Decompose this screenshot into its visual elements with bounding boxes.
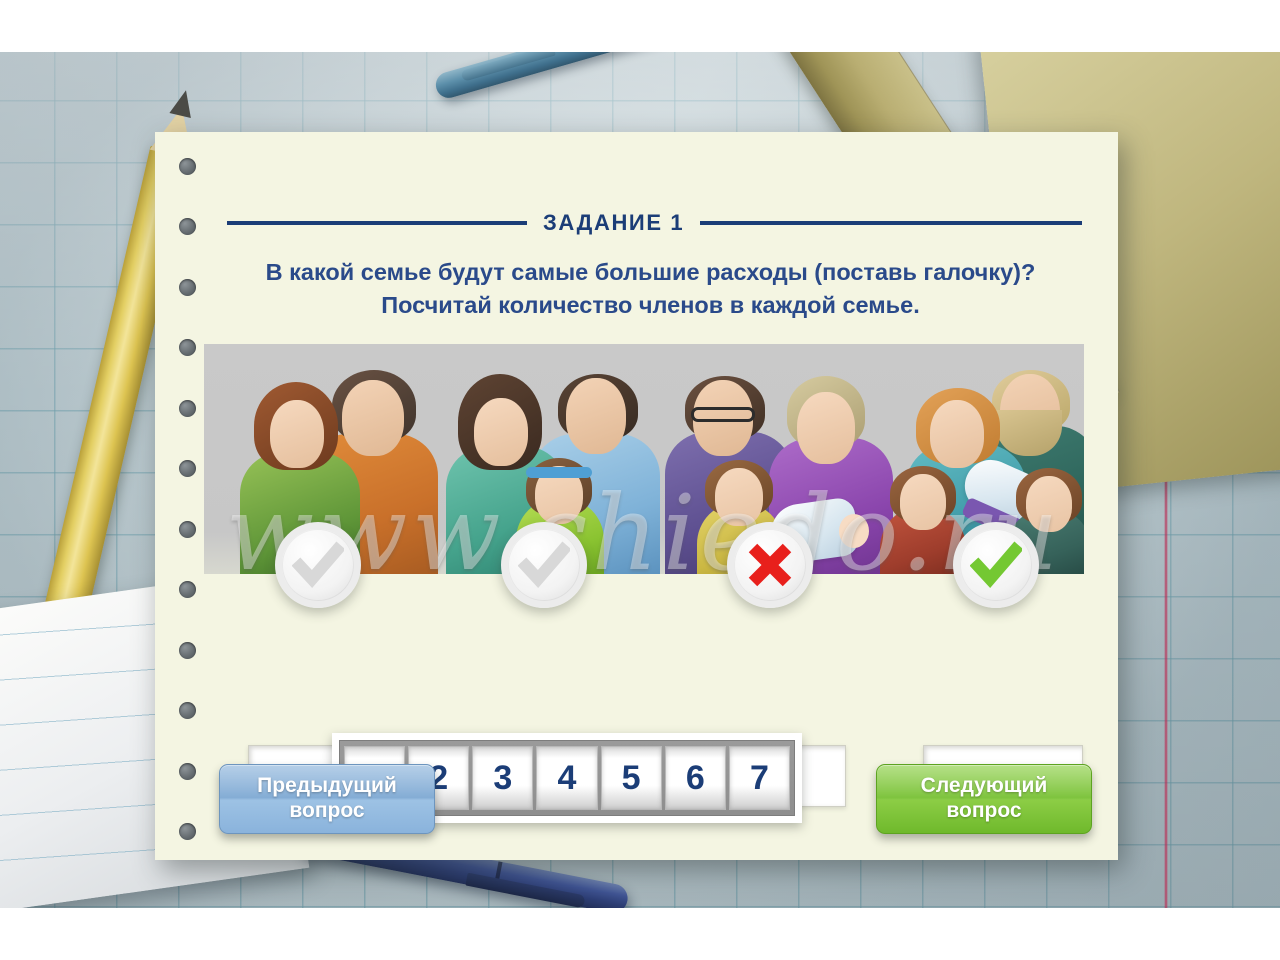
binder-hole xyxy=(179,763,196,780)
question-line-1: В какой семье будут самые большие расход… xyxy=(215,256,1086,289)
person-head xyxy=(474,398,528,466)
check-icon xyxy=(292,539,344,591)
child-head xyxy=(900,474,946,530)
next-question-line-1: Следующий xyxy=(921,774,1048,797)
cross-icon xyxy=(745,540,795,590)
question-text: В какой семье будут самые большие расход… xyxy=(215,256,1086,323)
check-icon xyxy=(518,539,570,591)
baby-head xyxy=(839,514,869,548)
previous-question-line-2: вопрос xyxy=(289,799,364,822)
person-head xyxy=(342,380,404,456)
previous-question-button[interactable]: Предыдущий вопрос xyxy=(219,764,435,834)
answer-circle-family-4[interactable] xyxy=(953,522,1039,608)
eyeglasses-icon xyxy=(691,407,755,422)
keypad-key-4[interactable]: 4 xyxy=(536,746,597,810)
binder-hole xyxy=(179,702,196,719)
task-title-row: ЗАДАНИЕ 1 xyxy=(227,210,1082,236)
binder-hole xyxy=(179,581,196,598)
person-head xyxy=(566,378,626,454)
person-head xyxy=(930,400,984,468)
binder-hole xyxy=(179,521,196,538)
keypad-key-6[interactable]: 6 xyxy=(665,746,726,810)
binder-hole xyxy=(179,460,196,477)
previous-question-label: Предыдущий вопрос xyxy=(257,774,397,824)
answer-circle-family-1[interactable] xyxy=(275,522,361,608)
keypad-key-5[interactable]: 5 xyxy=(601,746,662,810)
answer-circle-family-3[interactable] xyxy=(727,522,813,608)
keypad-key-3[interactable]: 3 xyxy=(472,746,533,810)
child-head xyxy=(1026,476,1072,532)
question-line-2: Посчитай количество членов в каждой семь… xyxy=(215,289,1086,322)
child-head xyxy=(715,468,763,526)
binder-hole xyxy=(179,158,196,175)
binder-hole xyxy=(179,642,196,659)
person-head xyxy=(270,400,324,468)
check-icon xyxy=(970,539,1022,591)
previous-question-line-1: Предыдущий xyxy=(257,774,397,797)
next-question-label: Следующий вопрос xyxy=(921,774,1048,824)
worksheet-card: ЗАДАНИЕ 1 В какой семье будут самые боль… xyxy=(155,132,1118,860)
answer-circle-family-2[interactable] xyxy=(501,522,587,608)
next-question-button[interactable]: Следующий вопрос xyxy=(876,764,1092,834)
binder-hole xyxy=(179,339,196,356)
binder-hole xyxy=(179,218,196,235)
next-question-line-2: вопрос xyxy=(946,799,1021,822)
binder-holes xyxy=(175,158,199,840)
keypad-key-7[interactable]: 7 xyxy=(729,746,790,810)
binder-hole xyxy=(179,400,196,417)
scene-stage: ЗАДАНИЕ 1 В какой семье будут самые боль… xyxy=(0,52,1280,908)
binder-hole xyxy=(179,823,196,840)
title-rule-right xyxy=(700,221,1082,225)
title-rule-left xyxy=(227,221,527,225)
page-title: ЗАДАНИЕ 1 xyxy=(543,210,684,236)
binder-hole xyxy=(179,279,196,296)
child-headband xyxy=(526,467,592,478)
person-head xyxy=(797,392,855,464)
